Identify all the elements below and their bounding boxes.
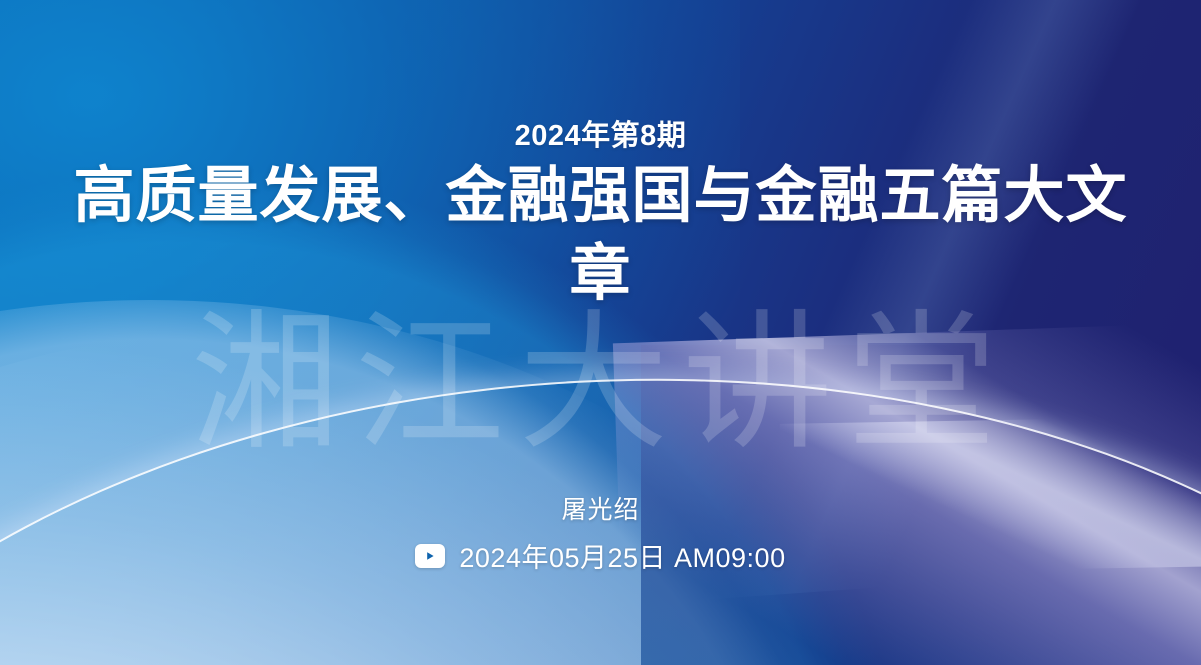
datetime-row: 2024年05月25日 AM09:00 (0, 536, 1201, 575)
page-title: 高质量发展、金融强国与金融五篇大文章 (56, 156, 1145, 312)
datetime-text: 2024年05月25日 AM09:00 (459, 536, 785, 575)
lecture-poster-slide: 湘江大讲堂 2024年第8期 高质量发展、金融强国与金融五篇大文章 屠光绍 20… (0, 0, 1201, 665)
issue-label: 2024年第8期 (0, 112, 1201, 154)
speaker-name: 屠光绍 (0, 490, 1201, 526)
poster-content: 2024年第8期 高质量发展、金融强国与金融五篇大文章 屠光绍 2024年05月… (0, 0, 1201, 665)
play-icon[interactable] (415, 544, 445, 568)
